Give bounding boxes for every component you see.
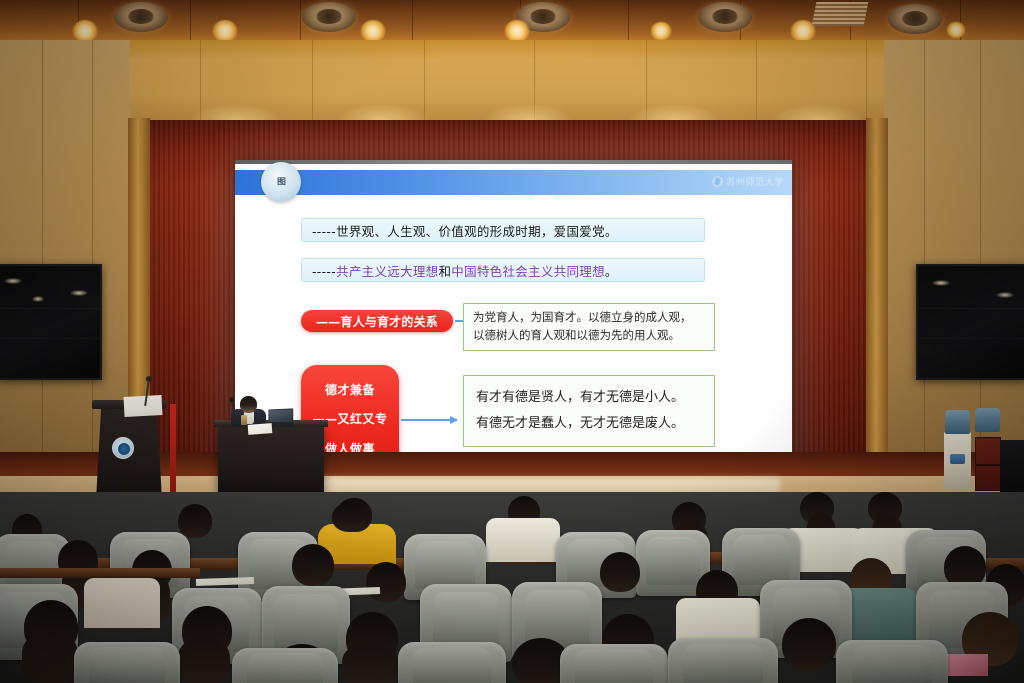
slide-bullet-2: -----共产主义远大理想和中国特色社会主义共同理想。	[301, 258, 705, 282]
ceiling-downlight	[504, 20, 530, 42]
ceiling-vent	[812, 2, 869, 26]
water-bottle	[945, 410, 970, 434]
auditorium-seat	[398, 642, 506, 683]
water-tap	[950, 454, 965, 464]
slide-bullet-1: -----世界观、人生观、价值观的形成时期，爱国爱党。	[301, 218, 705, 242]
university-logo: 苏州师范大学	[712, 175, 784, 188]
ceiling-speaker	[302, 2, 356, 32]
audience-area	[0, 492, 1024, 683]
slide-bullet-1-text: -----世界观、人生观、价值观的形成时期，爱国爱党。	[312, 221, 618, 240]
audience-head	[600, 552, 640, 592]
slide-green-box-2-line-2: 有德无才是蠢人，无才无德是废人。	[476, 411, 702, 437]
arrow-icon-2	[401, 419, 457, 421]
water-bottle	[975, 408, 1000, 432]
wall-monitor-left	[0, 264, 102, 380]
ceiling-downlight	[212, 20, 238, 42]
slide-green-box-1-line-2: 以德树人的育人观和以德为先的用人观。	[473, 327, 705, 345]
auditorium-seat	[232, 648, 338, 683]
slide-red-card-line-1: 德才兼备	[325, 381, 375, 398]
side-cabinet	[975, 437, 1001, 491]
audience-ponytail	[342, 644, 398, 683]
university-logo-mark	[712, 176, 723, 187]
university-logo-text: 苏州师范大学	[726, 175, 784, 188]
red-banner-strip	[170, 404, 176, 496]
row-desk	[0, 568, 200, 578]
audience-ponytail	[22, 632, 78, 683]
lectern-paper	[124, 395, 163, 417]
ceiling-downlight	[790, 20, 816, 42]
ceiling-speaker	[888, 4, 942, 34]
audience-head	[782, 618, 836, 670]
water-cooler	[944, 432, 971, 490]
university-emblem-icon	[112, 437, 134, 459]
ceiling-downlight	[360, 20, 386, 42]
lecture-hall-photo: 苏州师范大学 图 -----世界观、人生观、价值观的形成时期，爱国爱党。 ---…	[0, 0, 1024, 683]
audience-head	[366, 562, 406, 602]
audience-torso	[84, 578, 160, 628]
slide-bullet-2-text: -----共产主义远大理想和中国特色社会主义共同理想。	[312, 261, 618, 280]
auditorium-seat	[74, 642, 180, 683]
auditorium-seat	[668, 638, 778, 683]
audience-head	[178, 504, 212, 538]
slide-red-pill-text: ——育人与育才的关系	[316, 313, 438, 330]
auditorium-seat	[560, 644, 668, 683]
presenter-cup	[241, 415, 247, 425]
audience-torso	[486, 518, 560, 562]
screen-top-rail	[235, 160, 792, 164]
presenter-papers	[248, 423, 273, 435]
ceiling-speaker	[698, 2, 752, 32]
ceiling-downlight	[946, 22, 966, 38]
ceiling	[0, 0, 1024, 44]
wall-monitor-right	[916, 264, 1024, 380]
slide-red-pill-label: ——育人与育才的关系	[301, 310, 453, 332]
auditorium-seat	[836, 640, 948, 683]
audience-ponytail	[178, 638, 230, 683]
slide-badge-icon: 图	[261, 162, 301, 202]
presenter-head	[240, 396, 257, 413]
audience-head	[292, 544, 334, 586]
ceiling-downlight	[72, 20, 98, 42]
ceiling-downlight	[650, 22, 672, 40]
badge-glyph: 图	[277, 178, 285, 186]
slide-green-box-2: 有才有德是贤人，有才无德是小人。 有德无才是蠢人，无才无德是废人。	[463, 375, 715, 447]
ceiling-speaker	[114, 2, 168, 32]
presenter-laptop	[268, 408, 293, 426]
slide-green-box-1: 为党育人，为国育才。以德立身的成人观， 以德树人的育人观和以德为先的用人观。	[463, 303, 715, 351]
slide-green-box-2-line-1: 有才有德是贤人，有才无德是小人。	[476, 385, 702, 411]
slide-green-box-1-line-1: 为党育人，为国育才。以德立身的成人观，	[473, 309, 705, 327]
stage-chair	[1000, 440, 1024, 492]
presenter-desk	[218, 424, 324, 494]
audience-head	[332, 502, 370, 532]
backdrop-frame-right	[866, 118, 888, 494]
slide-banner: 苏州师范大学	[235, 170, 792, 195]
